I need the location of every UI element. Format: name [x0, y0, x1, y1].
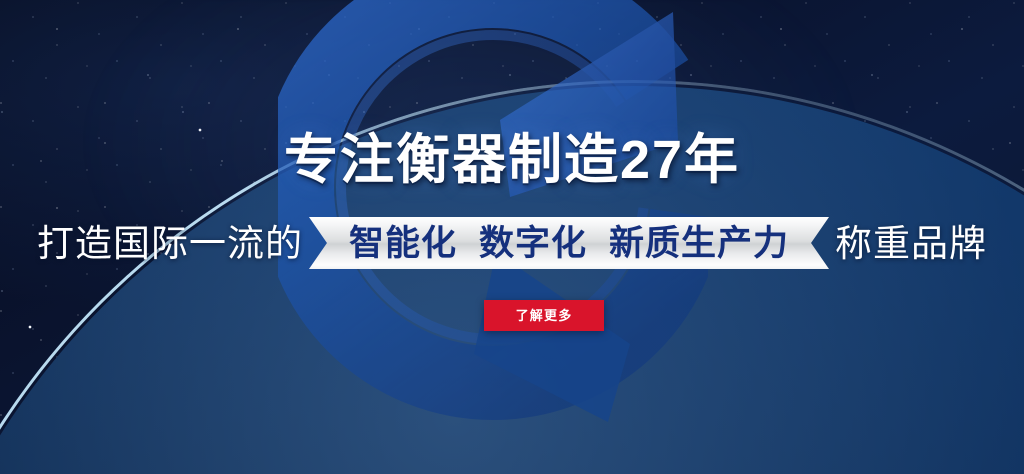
ribbon-word-3: 新质生产力 [609, 226, 789, 261]
hero-banner: 专注衡器制造27年 打造国际一流的 智能化 数字化 新质生产力 称重品牌 了解更… [0, 0, 1024, 474]
ribbon-word-2: 数字化 [479, 226, 587, 261]
subline-left-text: 打造国际一流的 [37, 225, 309, 262]
page-title: 专注衡器制造27年 [0, 132, 1024, 189]
ribbon-word-1: 智能化 [349, 226, 457, 261]
learn-more-button[interactable]: 了解更多 [484, 300, 604, 331]
ribbon-words: 智能化 数字化 新质生产力 [349, 226, 789, 261]
learn-more-button-label: 了解更多 [516, 309, 573, 322]
ribbon-right-chevron-icon [808, 217, 830, 269]
keyword-ribbon: 智能化 数字化 新质生产力 [309, 217, 829, 269]
subline-right-text: 称重品牌 [829, 225, 987, 262]
banner-content: 专注衡器制造27年 打造国际一流的 智能化 数字化 新质生产力 称重品牌 了解更… [0, 0, 1024, 474]
subline-row: 打造国际一流的 智能化 数字化 新质生产力 称重品牌 [0, 214, 1024, 272]
